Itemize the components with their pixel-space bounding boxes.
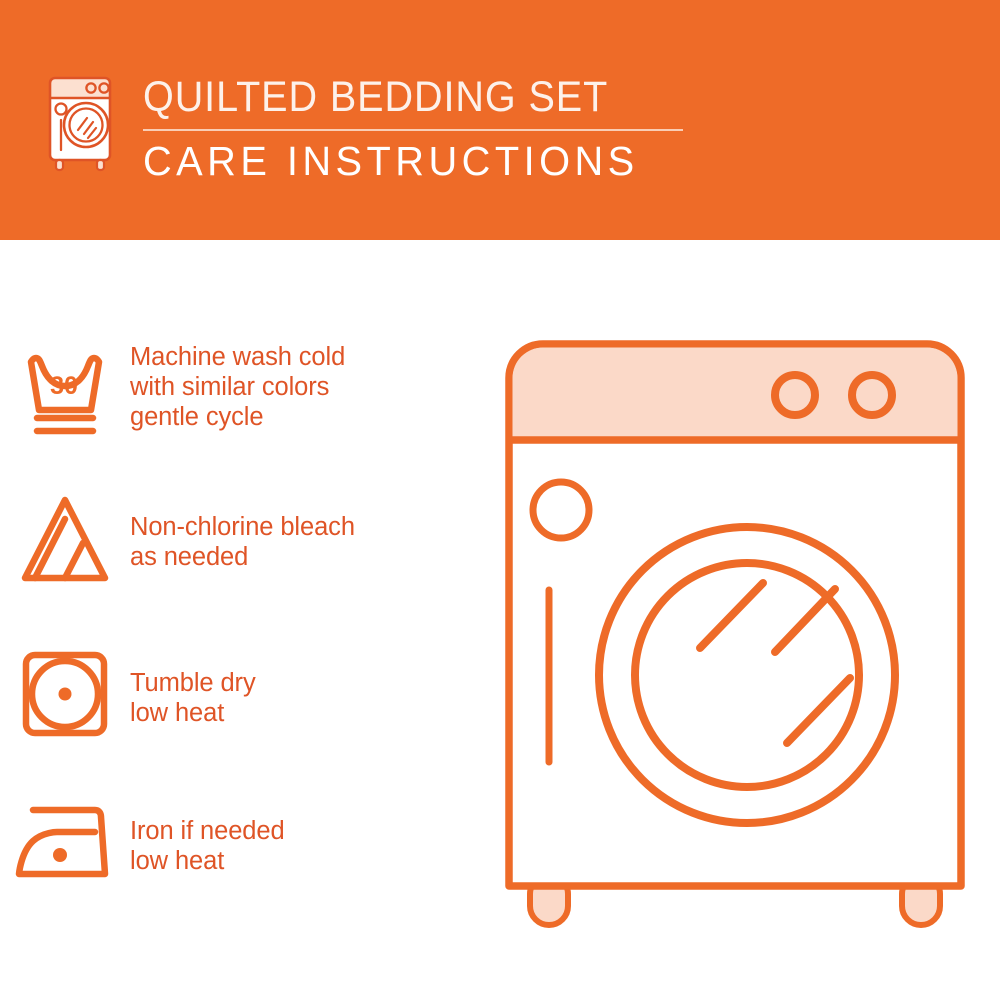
wash-tub-icon: 30: [0, 336, 130, 448]
care-instruction-label-iron: Iron if needed low heat: [130, 792, 285, 876]
iron-line-1: Iron if needed: [130, 816, 285, 846]
care-instruction-item-wash: 30 Machine wash cold with similar colors…: [0, 336, 490, 448]
care-instruction-item-iron: Iron if needed low heat: [0, 792, 490, 892]
page-title: QUILTED BEDDING SET: [143, 72, 658, 122]
wash-temperature-value: 30: [50, 372, 78, 400]
bleach-line-2: as needed: [130, 542, 355, 572]
tumble-dry-icon: [0, 640, 130, 748]
knob: [852, 375, 892, 415]
care-instruction-label-bleach: Non-chlorine bleach as needed: [130, 488, 355, 572]
knob: [775, 375, 815, 415]
front-load-washing-machine-illustration: [495, 330, 975, 930]
bleach-line-1: Non-chlorine bleach: [130, 512, 355, 542]
page-subtitle: CARE INSTRUCTIONS: [143, 137, 686, 185]
header-text-block: QUILTED BEDDING SET CARE INSTRUCTIONS: [143, 72, 703, 185]
care-instruction-list: 30 Machine wash cold with similar colors…: [0, 240, 490, 1000]
bleach-triangle-icon: [0, 488, 130, 592]
care-instruction-label-dry: Tumble dry low heat: [130, 640, 256, 728]
page-header: QUILTED BEDDING SET CARE INSTRUCTIONS: [0, 0, 1000, 240]
iron-icon: [0, 792, 130, 892]
title-divider: [143, 129, 683, 131]
care-instruction-item-dry: Tumble dry low heat: [0, 640, 490, 748]
wash-line-2: with similar colors: [130, 372, 345, 402]
wash-line-1: Machine wash cold: [130, 342, 345, 372]
care-instruction-item-bleach: Non-chlorine bleach as needed: [0, 488, 490, 592]
washing-machine-icon: [44, 68, 124, 174]
wash-line-3: gentle cycle: [130, 402, 345, 432]
care-instruction-label-wash: Machine wash cold with similar colors ge…: [130, 336, 345, 432]
dry-line-1: Tumble dry: [130, 668, 256, 698]
care-instructions-page: QUILTED BEDDING SET CARE INSTRUCTIONS: [0, 0, 1000, 1000]
iron-line-2: low heat: [130, 846, 285, 876]
dry-line-2: low heat: [130, 698, 256, 728]
